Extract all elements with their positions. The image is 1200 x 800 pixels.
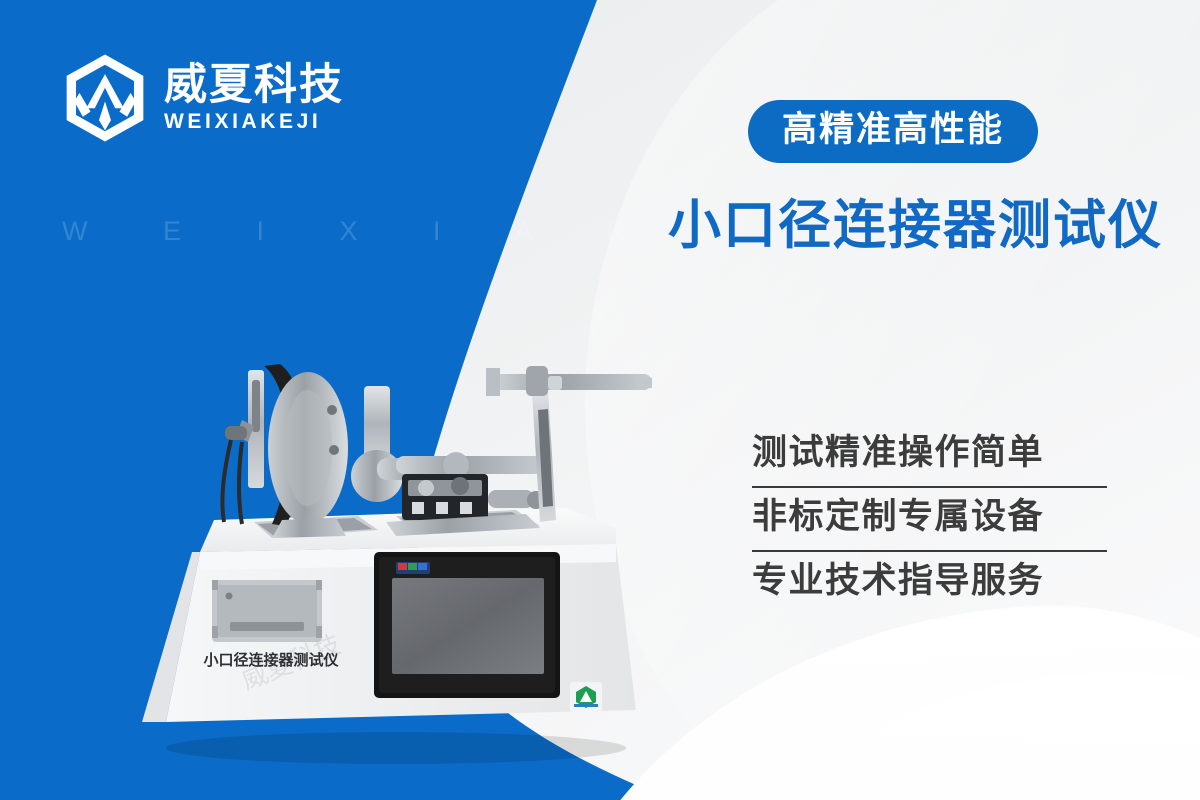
feature-list: 测试精准操作简单 非标定制专属设备 专业技术指导服务	[752, 424, 1114, 614]
feature-item: 非标定制专属设备	[752, 488, 1114, 550]
brand-logo: 威夏科技 WEIXIAKEJI	[62, 52, 344, 144]
hexagon-arrow-logo-icon	[62, 52, 148, 144]
product-front-label: 小口径连接器测试仪	[203, 651, 339, 669]
feature-item: 测试精准操作简单	[752, 424, 1114, 486]
brand-name-cn: 威夏科技	[164, 64, 344, 107]
brand-name-en: WEIXIAKEJI	[164, 111, 344, 132]
highlight-badge: 高精准高性能	[748, 100, 1038, 163]
feature-item: 专业技术指导服务	[752, 552, 1114, 614]
brand-logo-text: 威夏科技 WEIXIAKEJI	[164, 64, 344, 132]
corner-company-logo-icon	[570, 682, 602, 712]
page-title: 小口径连接器测试仪	[668, 196, 1163, 255]
product-banner: W E I X I A K E J I 威夏科技 WEIXIAKEJI 高精准高…	[0, 0, 1200, 800]
hmi-brand-sticker-icon	[396, 562, 430, 574]
product-photo: 威夏科技 小口径连接器测试仪	[96, 330, 696, 770]
